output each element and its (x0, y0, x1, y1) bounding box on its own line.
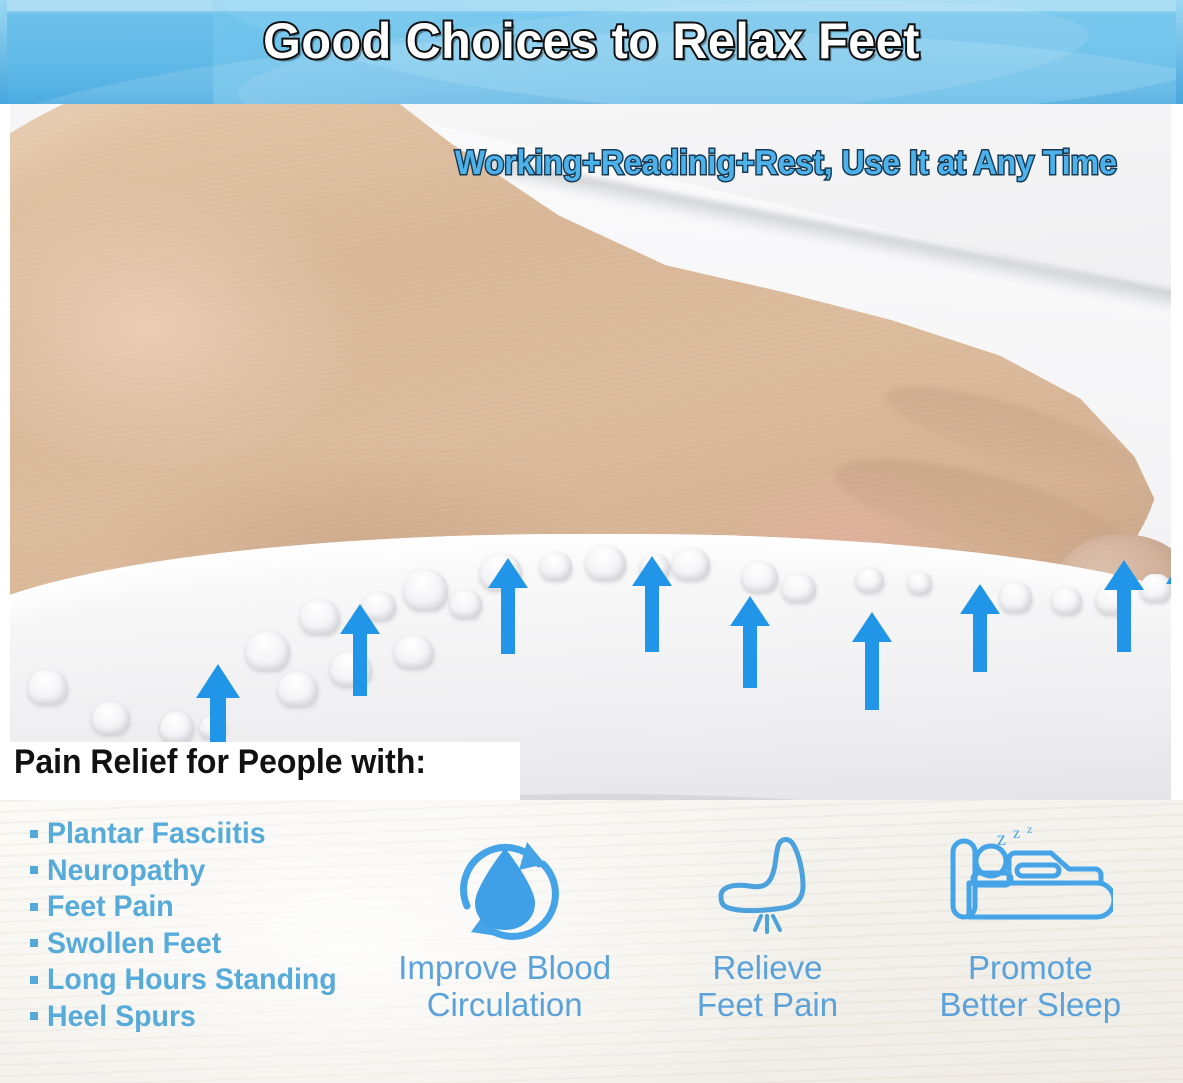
sleep-z-small: z (1027, 825, 1032, 836)
page-title: Good Choices to Relax Feet (18, 16, 1166, 66)
benefit-icon-slot (705, 826, 829, 946)
list-item: Feet Pain (30, 891, 352, 923)
massage-nub (782, 574, 816, 602)
condition-label: Long Hours Standing (47, 964, 337, 996)
sleep-z-large: z (997, 828, 1006, 850)
relief-headline: Pain Relief for People with: (14, 744, 426, 781)
condition-label: Neuropathy (47, 855, 205, 887)
product-photo: Working+Readinig+Rest, Use It at Any Tim… (0, 104, 1183, 800)
photo-left-border (0, 104, 10, 800)
bullet-square-icon (30, 866, 38, 874)
massage-nub (92, 702, 130, 734)
photo-subtitle: Working+Readinig+Rest, Use It at Any Tim… (455, 146, 1117, 180)
massage-nub (278, 672, 318, 706)
benefits-section: Plantar Fasciitis Neuropathy Feet Pain S… (0, 800, 1183, 1083)
banner-right-edge (1176, 0, 1183, 104)
sleep-z-medium: z (1013, 825, 1020, 842)
benefit-label: Improve Blood Circulation (398, 950, 611, 1024)
list-item: Plantar Fasciitis (30, 818, 352, 850)
massage-nub (300, 600, 340, 634)
massage-nub (160, 712, 194, 742)
benefit-badges: Improve Blood Circulation Relieve Feet P… (360, 826, 1175, 1076)
massage-nub (742, 562, 778, 592)
massage-nub (672, 548, 710, 580)
list-item: Long Hours Standing (30, 964, 352, 996)
up-arrow-icon (730, 596, 770, 688)
massage-nub (394, 636, 434, 668)
product-infographic: Good Choices to Relax Feet (0, 0, 1183, 1083)
photo-right-border (1171, 104, 1183, 800)
list-item: Heel Spurs (30, 1001, 352, 1033)
benefit-icon-slot: z z z (947, 826, 1113, 946)
condition-label: Swollen Feet (47, 928, 221, 960)
bullet-square-icon (30, 903, 38, 911)
benefit-promote-sleep: z z z Promote Better Sleep (886, 826, 1175, 1024)
bullet-square-icon (30, 939, 38, 947)
list-item: Swollen Feet (30, 928, 352, 960)
benefit-label: Relieve Feet Pain (697, 950, 838, 1024)
massage-nub (28, 670, 68, 704)
benefit-relieve-feet-pain: Relieve Feet Pain (649, 826, 885, 1024)
condition-label: Heel Spurs (47, 1001, 196, 1033)
person-sleeping-in-bed-icon: z z z (947, 825, 1113, 948)
massage-nub (540, 552, 572, 580)
up-arrow-icon (488, 558, 528, 654)
benefit-improve-circulation: Improve Blood Circulation (360, 826, 649, 1024)
benefit-icon-slot (441, 826, 569, 946)
list-item: Neuropathy (30, 855, 352, 887)
massage-nub (1000, 582, 1032, 612)
up-arrow-icon (340, 604, 380, 696)
massage-nub (1052, 588, 1082, 614)
up-arrow-icon (852, 612, 892, 710)
banner-left-edge (0, 0, 7, 104)
massage-nub (246, 632, 290, 670)
bullet-square-icon (30, 830, 38, 838)
condition-label: Feet Pain (47, 891, 174, 923)
up-arrow-icon (960, 584, 1000, 672)
banner-top-highlight (0, 0, 1183, 11)
massage-nub (856, 568, 884, 592)
foot-outline-icon (705, 834, 829, 939)
bullet-square-icon (30, 976, 38, 984)
massage-nub (908, 572, 932, 594)
header-banner: Good Choices to Relax Feet (0, 0, 1183, 104)
water-drop-circulation-icon (441, 824, 569, 949)
massage-nub (586, 546, 626, 580)
bullet-square-icon (30, 1012, 38, 1020)
up-arrow-icon (632, 556, 672, 652)
up-arrow-icon (1104, 560, 1144, 652)
conditions-list: Plantar Fasciitis Neuropathy Feet Pain S… (30, 818, 352, 1037)
condition-label: Plantar Fasciitis (47, 818, 266, 850)
benefit-label: Promote Better Sleep (940, 950, 1122, 1024)
massage-nub (404, 570, 448, 610)
massage-nub (450, 590, 482, 618)
